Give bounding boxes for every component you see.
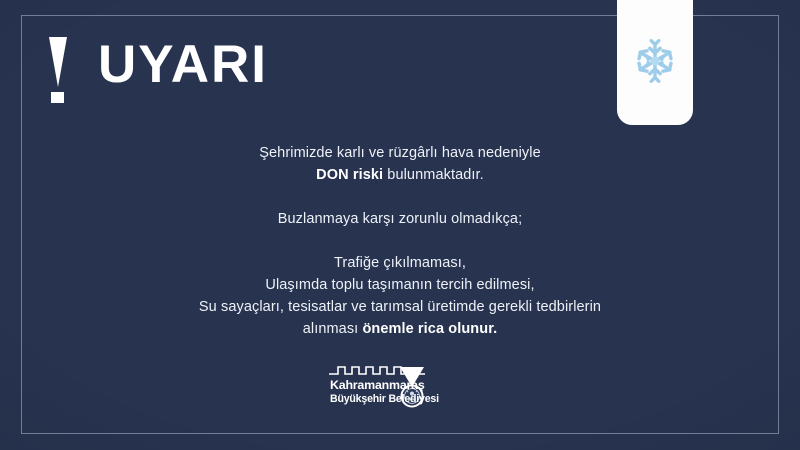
paragraph-1-line-1: Şehrimizde karlı ve rüzgârlı hava nedeni… (0, 142, 800, 164)
snowflake-badge-card (617, 0, 693, 125)
snowflake-icon (633, 39, 677, 83)
paragraph-1-line-2-rest: bulunmaktadır. (383, 167, 484, 183)
don-riski-emphasis: DON riski (316, 167, 383, 183)
paragraph-1: Şehrimizde karlı ve rüzgârlı hava nedeni… (0, 142, 800, 186)
logo-line-1: Kahramanmaraş (330, 378, 425, 392)
poster-heading: UYARI (46, 36, 268, 103)
paragraph-3-line-1: Trafiğe çıkılmaması, (0, 252, 800, 274)
warning-poster: UYARI (0, 0, 800, 450)
onemle-rica-olunur-emphasis: önemle rica olunur. (362, 321, 497, 337)
municipality-logo: Kahramanmaraş Büyükşehir Belediyesi (328, 360, 456, 410)
paragraph-2: Buzlanmaya karşı zorunlu olmadıkça; (0, 208, 800, 230)
exclamation-stem (49, 37, 67, 87)
paragraph-3: Trafiğe çıkılmaması, Ulaşımda toplu taşı… (0, 252, 800, 340)
paragraph-3-line-2: Ulaşımda toplu taşımanın tercih edilmesi… (0, 274, 800, 296)
exclamation-dot (51, 92, 64, 103)
paragraph-3-line-4: alınması önemle rica olunur. (0, 318, 800, 340)
paragraph-3-line-3: Su sayaçları, tesisatlar ve tarımsal üre… (0, 296, 800, 318)
paragraph-3-line-4-rest: alınması (303, 321, 363, 337)
logo-line-2: Büyükşehir Belediyesi (330, 393, 439, 405)
page-title: UYARI (98, 36, 268, 94)
poster-body-copy: Şehrimizde karlı ve rüzgârlı hava nedeni… (0, 142, 800, 340)
paragraph-1-line-2: DON riski bulunmaktadır. (0, 164, 800, 186)
exclamation-mark-icon (46, 37, 72, 103)
paragraph-2-line-1: Buzlanmaya karşı zorunlu olmadıkça; (0, 208, 800, 230)
